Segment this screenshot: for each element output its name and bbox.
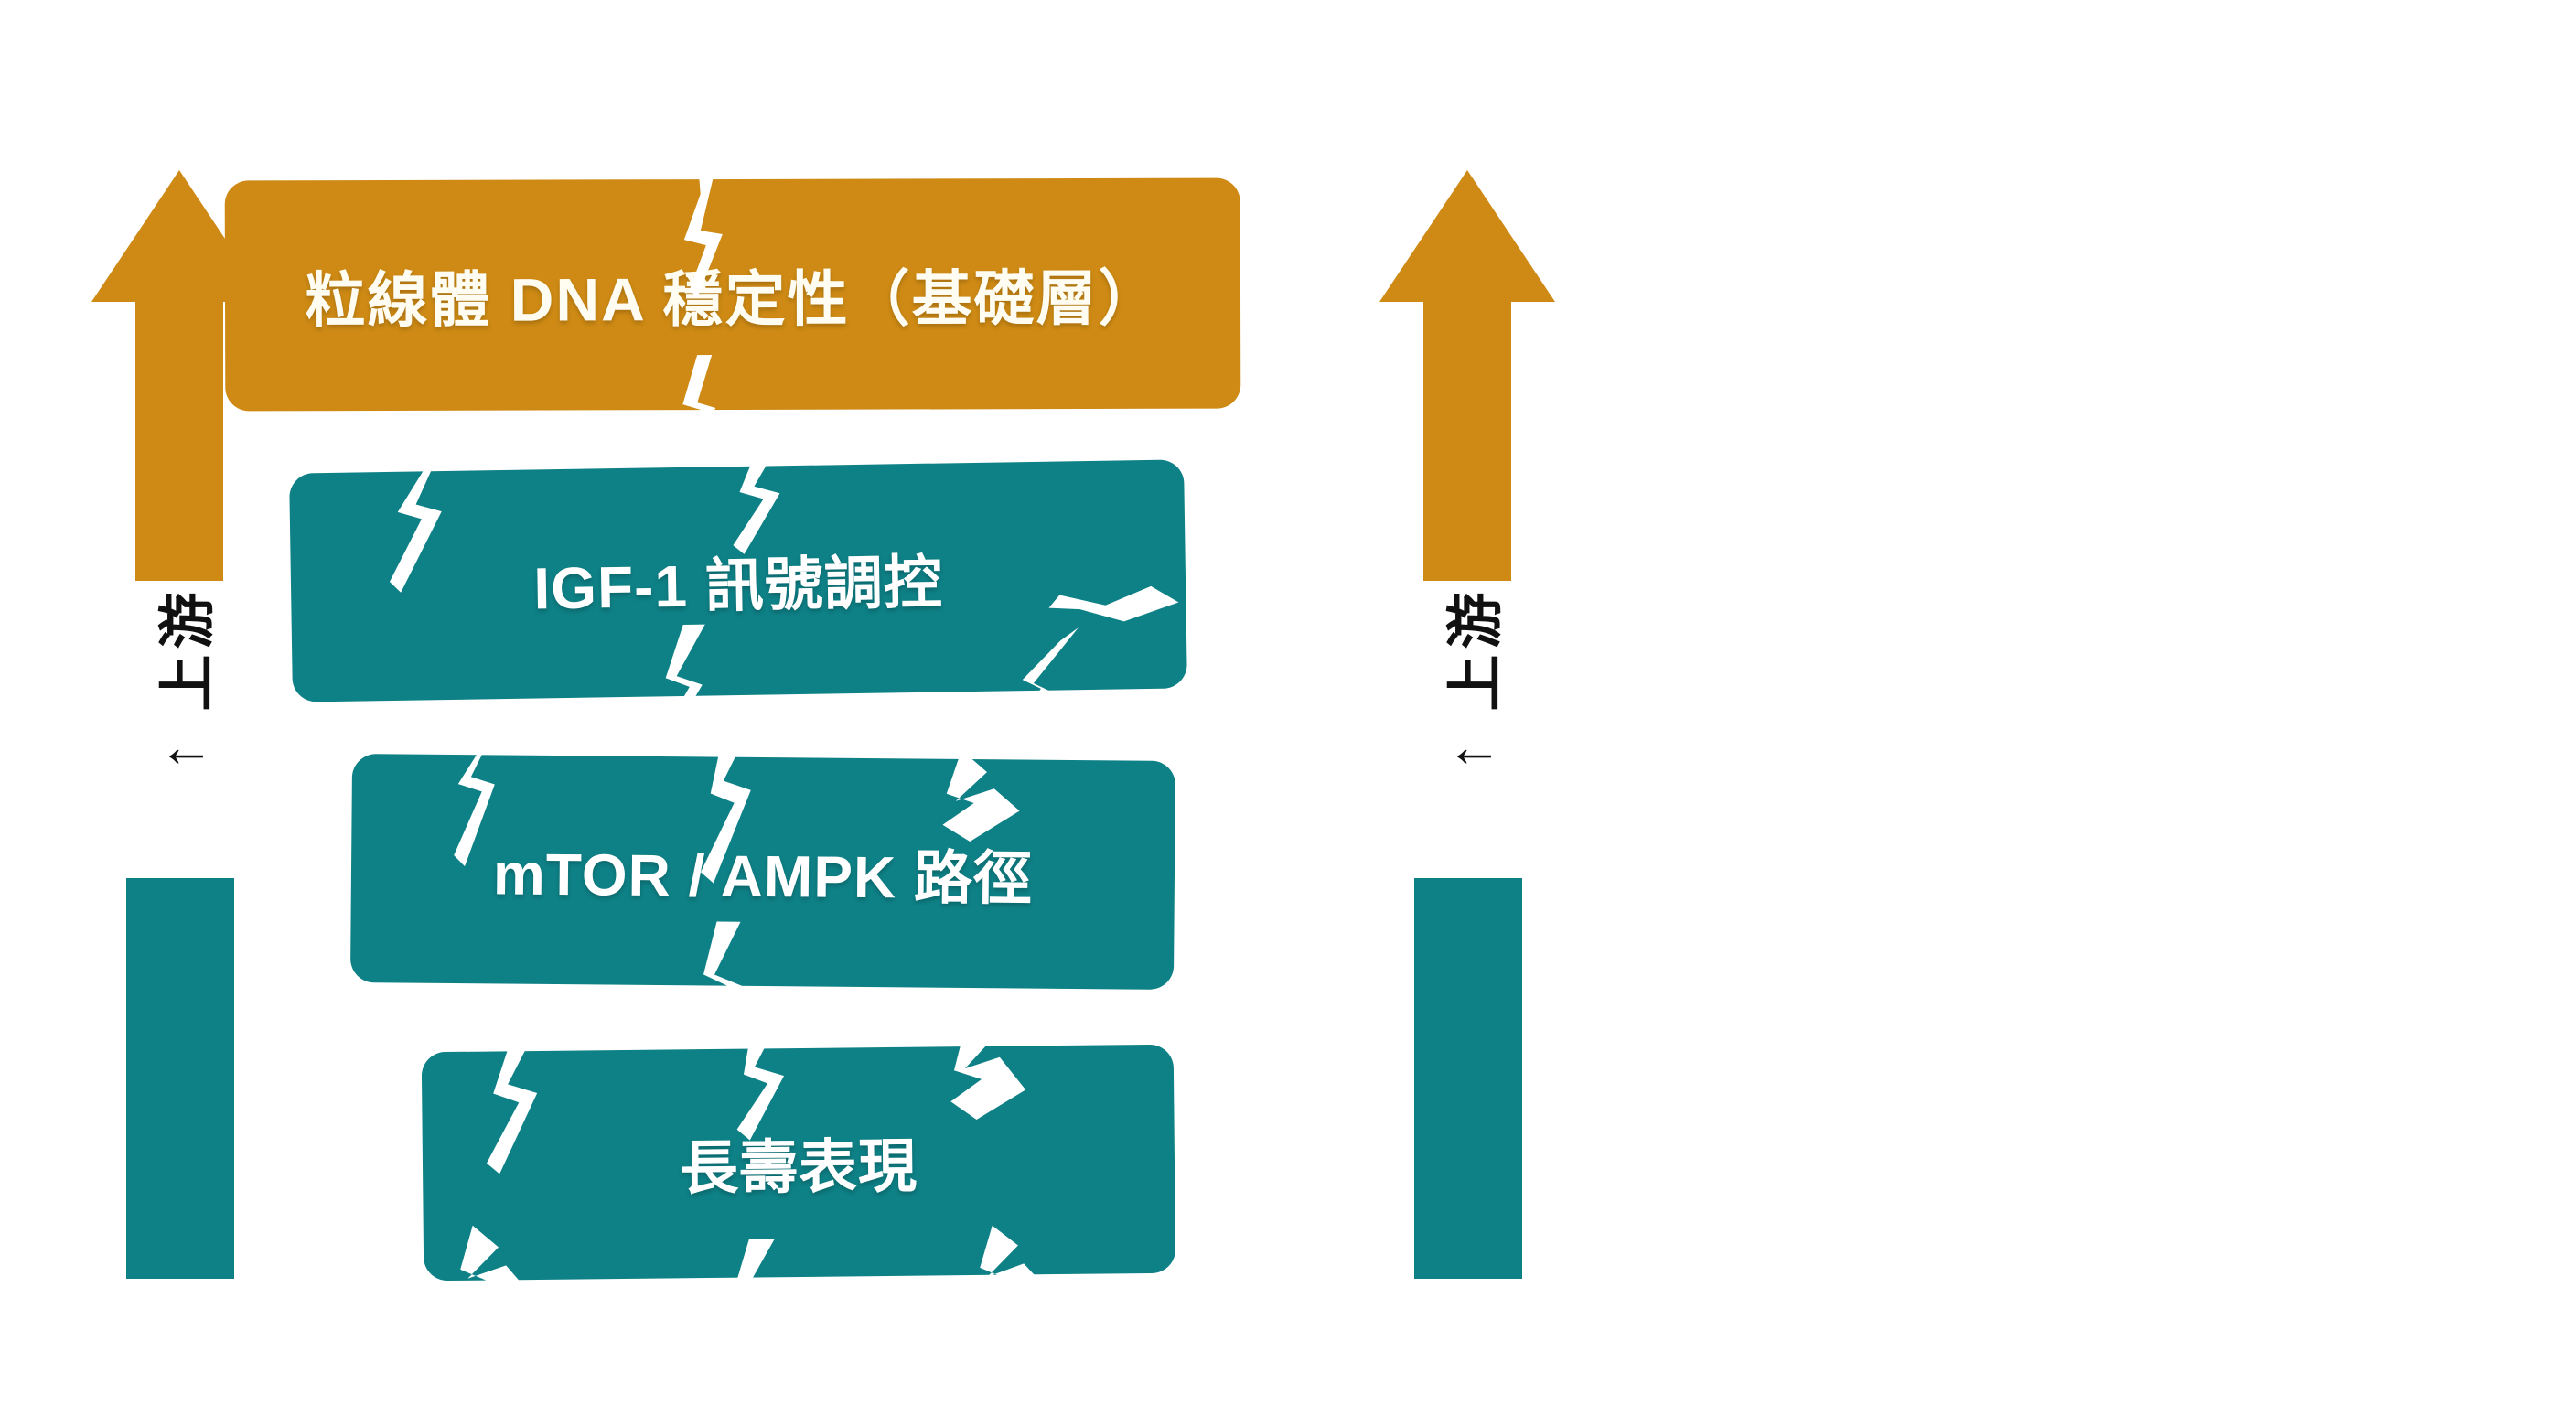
upstream-bar-left xyxy=(126,878,234,1279)
header-box-label: 粒線體 DNA 穩定性（基礎層） xyxy=(305,250,1160,339)
upstream-gauge-right: ↑ 上游 xyxy=(1376,165,1559,1262)
upstream-label-text: 上游 xyxy=(1429,587,1511,712)
upstream-bar-right xyxy=(1414,878,1522,1279)
header-box-cracked: 粒線體 DNA 穩定性（基礎層） xyxy=(225,178,1241,412)
upstream-label-text: 上游 xyxy=(141,587,223,712)
upstream-label-right: ↑ 上游 xyxy=(1379,528,1562,830)
diagram-canvas: ↑ 上游 粒線體 DNA 穩定性（基礎層） IGF-1 訊號調控 xyxy=(0,0,2576,1405)
upstream-arrow-glyph: ↑ xyxy=(150,737,215,771)
up-arrow-icon xyxy=(1376,165,1559,585)
upstream-arrow-glyph: ↑ xyxy=(1438,737,1503,771)
panel-cracked: ↑ 上游 粒線體 DNA 穩定性（基礎層） IGF-1 訊號調控 xyxy=(0,0,1288,1405)
step-label-igf1: IGF-1 訊號調控 xyxy=(533,535,944,626)
panel-intact: ↑ 上游 粒線體 DNA 穩定性（基礎層） IGF-1 訊號調控 xyxy=(1288,0,2576,1405)
step-label-longevity: 長壽表現 xyxy=(680,1120,918,1207)
upstream-label-left: ↑ 上游 xyxy=(91,528,274,830)
step-box-mtor-cracked: mTOR / AMPK 路徑 xyxy=(350,754,1175,990)
step-label-mtor: mTOR / AMPK 路徑 xyxy=(493,827,1034,916)
step-box-igf1-cracked: IGF-1 訊號調控 xyxy=(289,459,1187,702)
step-box-longevity-cracked: 長壽表現 xyxy=(422,1045,1176,1282)
